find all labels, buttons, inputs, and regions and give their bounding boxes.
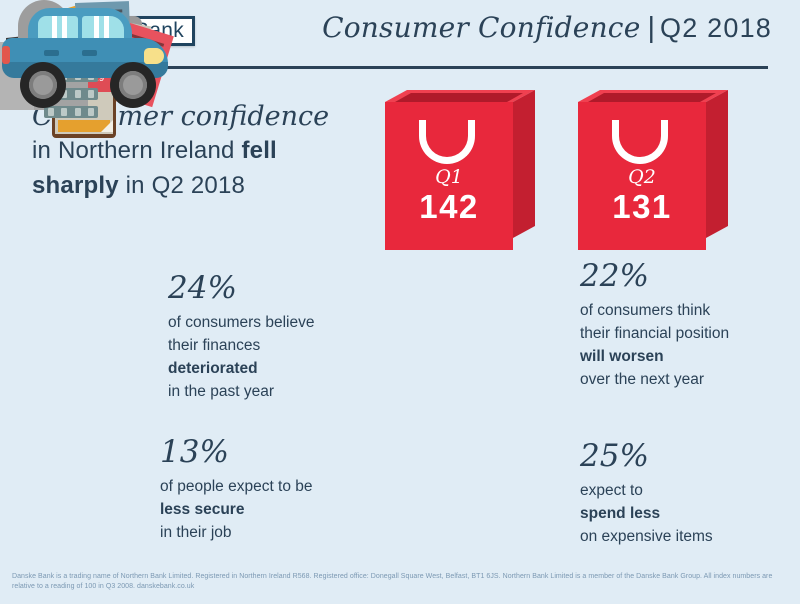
padlock-dial-row-4 — [44, 106, 98, 118]
headline-line-2: in Northern Ireland fell — [32, 134, 392, 169]
car-window-highlight-1 — [52, 16, 57, 40]
car-taillight — [2, 46, 10, 64]
page-footer: Danske Bank is a trading name of Norther… — [0, 564, 800, 604]
calendar-footer-bar — [58, 120, 110, 132]
stat-block-position-will-worsen: 22% of consumers think their financial p… — [580, 260, 795, 392]
headline-line-2-text: in Northern Ireland — [32, 137, 241, 164]
stat-percent-22: 22% — [580, 260, 795, 293]
stat-text-22: of consumers think their financial posit… — [580, 299, 795, 392]
headline-line-3: sharply in Q2 2018 — [32, 169, 392, 204]
car-window-highlight-2 — [62, 16, 67, 40]
stat-text-13: of people expect to be less secure in th… — [160, 475, 375, 545]
car-window-front — [38, 16, 78, 40]
stat-line-1: of people expect to be — [160, 478, 313, 495]
page-title-separator: | — [647, 12, 655, 44]
car-wheel-front — [110, 62, 156, 108]
stat-line-2: their financial position — [580, 325, 729, 342]
headline-line-3-text: in Q2 2018 — [119, 172, 245, 199]
bag-q2-value: 131 — [578, 188, 706, 226]
headline-emphasis-sharply: sharply — [32, 172, 119, 199]
stat-text-25: expect to spend less on expensive items — [580, 479, 795, 549]
stat-block-finances-deteriorated: 24% of consumers believe their finances … — [168, 272, 368, 404]
car-wheel-rear — [20, 62, 66, 108]
page-title-quarter: Q2 2018 — [660, 13, 772, 43]
bag-q1-value: 142 — [385, 188, 513, 226]
bag-side — [706, 90, 728, 238]
car-icon — [0, 360, 180, 460]
stat-line-2: their finances — [168, 337, 260, 354]
car-door-handle-2 — [82, 50, 97, 56]
footer-disclaimer: Danske Bank is a trading name of Norther… — [12, 572, 788, 592]
bag-side — [513, 90, 535, 238]
stat-line-1: of consumers believe — [168, 314, 314, 331]
car-door-handle-1 — [44, 50, 59, 56]
stat-line-3: on expensive items — [580, 528, 713, 545]
stat-line-3: in their job — [160, 524, 232, 541]
car-window-rear — [82, 16, 124, 40]
page-title: Consumer Confidence|Q2 2018 — [322, 11, 772, 45]
stat-text-24: of consumers believe their finances dete… — [168, 311, 368, 404]
stat-emphasis: will worsen — [580, 348, 664, 365]
stat-percent-25: 25% — [580, 440, 795, 473]
stat-percent-24: 24% — [168, 272, 368, 305]
stat-block-job-less-secure: 13% of people expect to be less secure i… — [160, 436, 375, 544]
stat-emphasis: spend less — [580, 505, 660, 522]
car-window-highlight-4 — [104, 16, 109, 40]
padlock-icon — [0, 250, 110, 360]
stat-emphasis: less secure — [160, 501, 244, 518]
stat-line-1: of consumers think — [580, 302, 710, 319]
stat-percent-13: 13% — [160, 436, 375, 469]
stat-line-1: expect to — [580, 482, 643, 499]
bag-q2-label: Q2 — [578, 166, 706, 188]
stat-block-spend-less: 25% expect to spend less on expensive it… — [580, 440, 795, 548]
stat-emphasis: deteriorated — [168, 360, 258, 377]
stat-line-3: over the next year — [580, 371, 704, 388]
stat-line-3: in the past year — [168, 383, 274, 400]
page-title-main: Consumer Confidence — [322, 11, 640, 44]
bag-q1-label: Q1 — [385, 166, 513, 188]
car-window-highlight-3 — [94, 16, 99, 40]
headline-emphasis-fell: fell — [241, 137, 276, 164]
car-headlight — [144, 48, 164, 64]
